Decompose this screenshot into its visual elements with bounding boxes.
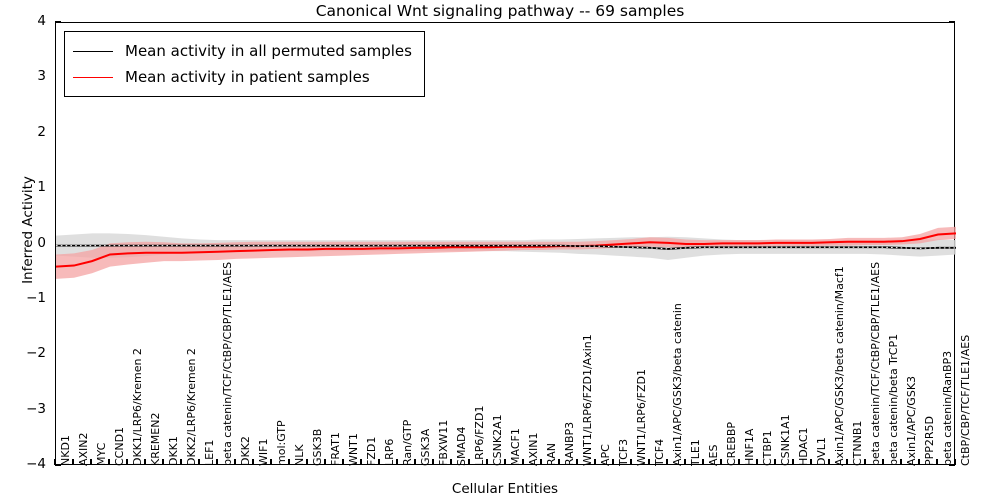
x-tick-mark — [414, 459, 415, 465]
x-tick-mark — [144, 459, 145, 465]
x-tick-label: FBXW11 — [438, 420, 449, 466]
x-tick-mark — [756, 459, 757, 465]
legend-line-icon-patient — [73, 77, 113, 78]
x-tick-mark — [216, 459, 217, 465]
x-tick-label: CCND1 — [114, 427, 125, 466]
x-tick-label: Axin1/APC/GSK3 — [906, 376, 917, 466]
x-tick-mark — [288, 459, 289, 465]
y-tick-label: −3 — [0, 401, 46, 417]
x-tick-mark — [828, 459, 829, 465]
y-tick-label: −2 — [0, 345, 46, 361]
x-tick-mark — [558, 459, 559, 465]
x-tick-label: DKK2/LRP6/Kremen 2 — [186, 348, 197, 466]
x-tick-label: GSK3A — [420, 429, 431, 466]
x-tick-label: beta catenin/TCF/CtBP/CBP/TLE1/AES — [222, 262, 233, 466]
x-tick-label: LEF1 — [204, 440, 215, 466]
x-tick-label: CtBP/CBP/TCF/TLE1/AES — [960, 335, 971, 466]
x-tick-mark — [54, 459, 55, 465]
x-tick-label: CTBP1 — [762, 430, 773, 466]
x-tick-mark — [918, 459, 919, 465]
x-tick-mark — [306, 459, 307, 465]
x-tick-label: WNT1/LRP6/FZD1/Axin1 — [582, 334, 593, 466]
x-tick-mark — [360, 459, 361, 465]
x-tick-mark — [522, 459, 523, 465]
x-tick-mark — [774, 459, 775, 465]
x-tick-mark — [270, 459, 271, 465]
y-tick-label: −1 — [0, 290, 46, 306]
x-tick-label: Ran/GTP — [402, 420, 413, 466]
x-tick-mark — [792, 459, 793, 465]
x-tick-label: GSK3B — [312, 429, 323, 466]
x-tick-label: beta catenin/beta TrCP1 — [888, 334, 899, 466]
x-tick-label: HNF1A — [744, 429, 755, 466]
x-tick-label: beta catenin/TCF/CtBP/CBP/TLE1/AES — [870, 262, 881, 466]
x-tick-mark — [486, 459, 487, 465]
x-tick-mark — [504, 459, 505, 465]
x-tick-label: SMAD4 — [456, 427, 467, 466]
x-tick-label: FRAT1 — [330, 432, 341, 466]
x-tick-mark — [432, 459, 433, 465]
y-tick-label: 0 — [0, 235, 46, 251]
x-tick-label: DVL1 — [816, 437, 827, 466]
x-tick-label: HDAC1 — [798, 427, 809, 466]
x-tick-label: TLE1 — [690, 439, 701, 466]
x-tick-mark — [252, 459, 253, 465]
legend-line-icon-permuted — [73, 51, 113, 52]
x-tick-label: TCF3 — [618, 439, 629, 466]
x-tick-label: LRP6/FZD1 — [474, 406, 485, 466]
x-tick-label: DKK1/LRP6/Kremen 2 — [132, 348, 143, 466]
x-tick-label: Axin1/APC/GSK3/beta catenin — [672, 303, 683, 466]
x-tick-label: WNT1 — [348, 433, 359, 466]
y-tick-label: 2 — [0, 124, 46, 140]
x-tick-mark — [810, 459, 811, 465]
x-tick-label: Axin1/APC/GSK3/beta catenin/Macf1 — [834, 266, 845, 466]
y-tick-label: 1 — [0, 179, 46, 195]
x-tick-label: DKK2 — [240, 436, 251, 466]
x-tick-label: CREBBP — [726, 422, 737, 466]
x-tick-label: RANBP3 — [564, 422, 575, 466]
x-tick-mark — [864, 459, 865, 465]
x-tick-mark — [630, 459, 631, 465]
chart-legend: Mean activity in all permuted samples Me… — [64, 31, 425, 97]
x-tick-mark — [882, 459, 883, 465]
x-tick-mark — [702, 459, 703, 465]
x-tick-mark — [936, 459, 937, 465]
x-tick-mark — [90, 459, 91, 465]
x-tick-label: MACF1 — [510, 428, 521, 466]
x-tick-mark — [846, 459, 847, 465]
x-tick-label: CSNK1A1 — [780, 414, 791, 466]
y-tick-label: 3 — [0, 68, 46, 84]
x-tick-label: RAN — [546, 443, 557, 466]
x-tick-label: PPP2R5D — [924, 416, 935, 466]
x-tick-mark — [666, 459, 667, 465]
x-tick-label: NKD1 — [60, 435, 71, 466]
legend-label-patient: Mean activity in patient samples — [125, 68, 370, 86]
y-tick-label: 4 — [0, 13, 46, 29]
x-tick-label: APC — [600, 444, 611, 466]
x-tick-mark — [396, 459, 397, 465]
legend-label-permuted: Mean activity in all permuted samples — [125, 42, 412, 60]
x-tick-mark — [162, 459, 163, 465]
x-tick-label: KREMEN2 — [150, 413, 161, 466]
x-tick-mark — [576, 459, 577, 465]
x-tick-label: LRP6 — [384, 439, 395, 466]
x-tick-mark — [126, 459, 127, 465]
x-tick-mark — [720, 459, 721, 465]
x-tick-mark — [684, 459, 685, 465]
x-tick-mark — [738, 459, 739, 465]
legend-item-patient: Mean activity in patient samples — [73, 64, 412, 90]
x-tick-mark — [180, 459, 181, 465]
x-tick-label: CTNNB1 — [852, 421, 863, 466]
x-tick-mark — [900, 459, 901, 465]
x-tick-mark — [198, 459, 199, 465]
chart-figure: Canonical Wnt signaling pathway -- 69 sa… — [0, 0, 1000, 500]
x-tick-mark — [342, 459, 343, 465]
x-tick-label: CSNK2A1 — [492, 414, 503, 466]
x-tick-label: AES — [708, 445, 719, 466]
x-tick-label: FZD1 — [366, 437, 377, 466]
y-tick-label: −4 — [0, 456, 46, 472]
x-tick-mark — [612, 459, 613, 465]
legend-item-permuted: Mean activity in all permuted samples — [73, 38, 412, 64]
x-tick-label: TCF4 — [654, 439, 665, 466]
x-tick-mark — [468, 459, 469, 465]
x-tick-label: WNT1/LRP6/FZD1 — [636, 369, 647, 466]
x-tick-mark — [108, 459, 109, 465]
x-tick-mark — [648, 459, 649, 465]
x-tick-label: DKK1 — [168, 436, 179, 466]
x-tick-label: mol:GTP — [276, 420, 287, 466]
x-tick-mark — [450, 459, 451, 465]
x-tick-mark — [72, 459, 73, 465]
x-tick-mark — [234, 459, 235, 465]
x-tick-label: WIF1 — [258, 439, 269, 466]
x-tick-mark — [540, 459, 541, 465]
x-tick-mark — [954, 459, 955, 465]
x-tick-label: NLK — [294, 444, 305, 466]
x-tick-label: AXIN1 — [528, 432, 539, 466]
x-tick-label: MYC — [96, 443, 107, 466]
x-tick-mark — [594, 459, 595, 465]
x-tick-mark — [378, 459, 379, 465]
x-tick-label: AXIN2 — [78, 432, 89, 466]
x-tick-label: beta catenin/RanBP3 — [942, 351, 953, 466]
x-tick-mark — [324, 459, 325, 465]
